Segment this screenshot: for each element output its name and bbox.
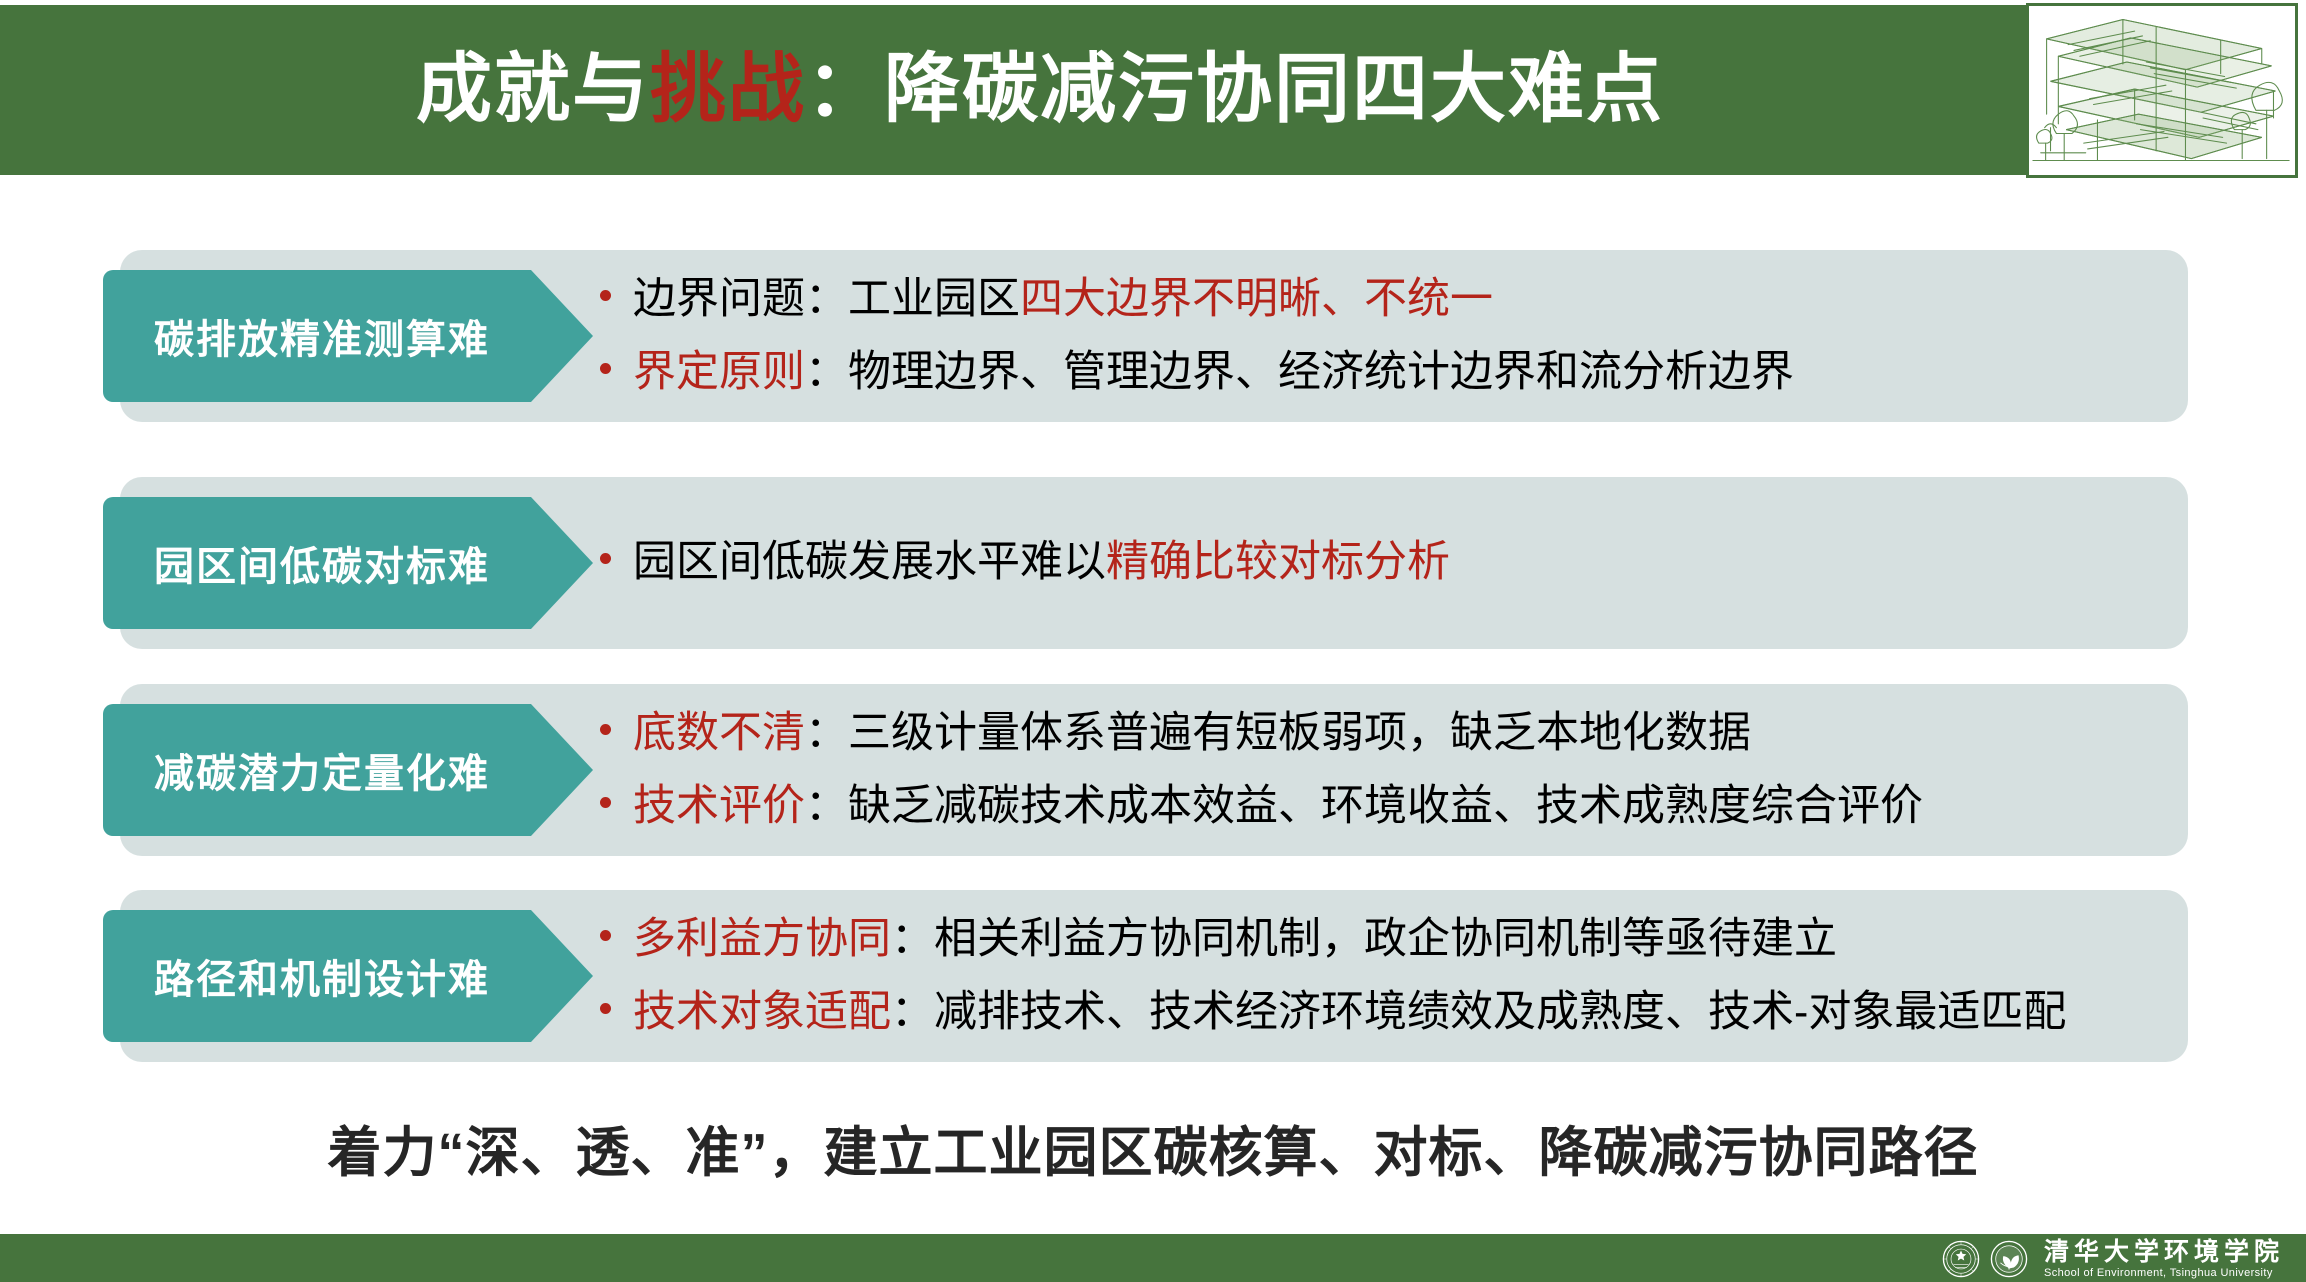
list-item: 技术评价：缺乏减碳技术成本效益、环境收益、技术成熟度综合评价	[600, 776, 2168, 837]
row-bullets-4: 多利益方协同：相关利益方协同机制，政企协同机制等亟待建立 技术对象适配：减排技术…	[600, 890, 2168, 1062]
row-bullets-3: 底数不清：三级计量体系普遍有短板弱项，缺乏本地化数据 技术评价：缺乏减碳技术成本…	[600, 684, 2168, 856]
bullet-dot-icon	[600, 797, 611, 808]
bullet-text: 多利益方协同：相关利益方协同机制，政企协同机制等亟待建立	[633, 909, 2168, 970]
footer-org-cn: 清华大学环境学院	[2044, 1239, 2284, 1265]
bullet-dot-icon	[600, 930, 611, 941]
bullet-dot-icon	[600, 290, 611, 301]
row-tag-label-2[interactable]: 园区间低碳对标难	[103, 497, 593, 629]
list-item: 底数不清：三级计量体系普遍有短板弱项，缺乏本地化数据	[600, 703, 2168, 764]
bullet-text: 边界问题：工业园区四大边界不明晰、不统一	[633, 269, 2168, 330]
difficulty-row-3: 减碳潜力定量化难 底数不清：三级计量体系普遍有短板弱项，缺乏本地化数据 技术评价…	[120, 684, 2188, 856]
list-item: 园区间低碳发展水平难以精确比较对标分析	[600, 532, 2168, 593]
difficulty-row-1: 碳排放精准测算难 边界问题：工业园区四大边界不明晰、不统一 界定原则：物理边界、…	[120, 250, 2188, 422]
difficulty-rows: 碳排放精准测算难 边界问题：工业园区四大边界不明晰、不统一 界定原则：物理边界、…	[0, 0, 2306, 1282]
bullet-dot-icon	[600, 1003, 611, 1014]
slide-root: 成就与挑战：降碳减污协同四大难点	[0, 0, 2306, 1282]
bullet-dot-icon	[600, 724, 611, 735]
footer-org-en: School of Environment, Tsinghua Universi…	[2044, 1267, 2284, 1279]
difficulty-row-2: 园区间低碳对标难 园区间低碳发展水平难以精确比较对标分析	[120, 477, 2188, 649]
row-tag-label-1[interactable]: 碳排放精准测算难	[103, 270, 593, 402]
footer-org-names: 清华大学环境学院 School of Environment, Tsinghua…	[2044, 1239, 2284, 1278]
bullet-text: 技术对象适配：减排技术、技术经济环境绩效及成熟度、技术-对象最适匹配	[633, 982, 2168, 1043]
bullet-text: 园区间低碳发展水平难以精确比较对标分析	[633, 532, 2168, 593]
row-tag-label-3[interactable]: 减碳潜力定量化难	[103, 704, 593, 836]
row-tag-label-4[interactable]: 路径和机制设计难	[103, 910, 593, 1042]
bullet-dot-icon	[600, 363, 611, 374]
tsinghua-seal-icon	[1942, 1240, 1980, 1278]
summary-statement: 着力“深、透、准”，建立工业园区碳核算、对标、降碳减污协同路径	[0, 1108, 2306, 1187]
bullet-text: 界定原则：物理边界、管理边界、经济统计边界和流分析边界	[633, 342, 2168, 403]
bullet-text: 底数不清：三级计量体系普遍有短板弱项，缺乏本地化数据	[633, 703, 2168, 764]
footer-logo: 清华大学环境学院 School of Environment, Tsinghua…	[1942, 1238, 2284, 1280]
row-bullets-1: 边界问题：工业园区四大边界不明晰、不统一 界定原则：物理边界、管理边界、经济统计…	[600, 250, 2168, 422]
bullet-text: 技术评价：缺乏减碳技术成本效益、环境收益、技术成熟度综合评价	[633, 776, 2168, 837]
list-item: 多利益方协同：相关利益方协同机制，政企协同机制等亟待建立	[600, 909, 2168, 970]
difficulty-row-4: 路径和机制设计难 多利益方协同：相关利益方协同机制，政企协同机制等亟待建立 技术…	[120, 890, 2188, 1062]
bullet-dot-icon	[600, 553, 611, 564]
list-item: 技术对象适配：减排技术、技术经济环境绩效及成熟度、技术-对象最适匹配	[600, 982, 2168, 1043]
row-bullets-2: 园区间低碳发展水平难以精确比较对标分析	[600, 477, 2168, 649]
list-item: 界定原则：物理边界、管理边界、经济统计边界和流分析边界	[600, 342, 2168, 403]
school-of-environment-emblem-icon	[1990, 1240, 2028, 1278]
list-item: 边界问题：工业园区四大边界不明晰、不统一	[600, 269, 2168, 330]
